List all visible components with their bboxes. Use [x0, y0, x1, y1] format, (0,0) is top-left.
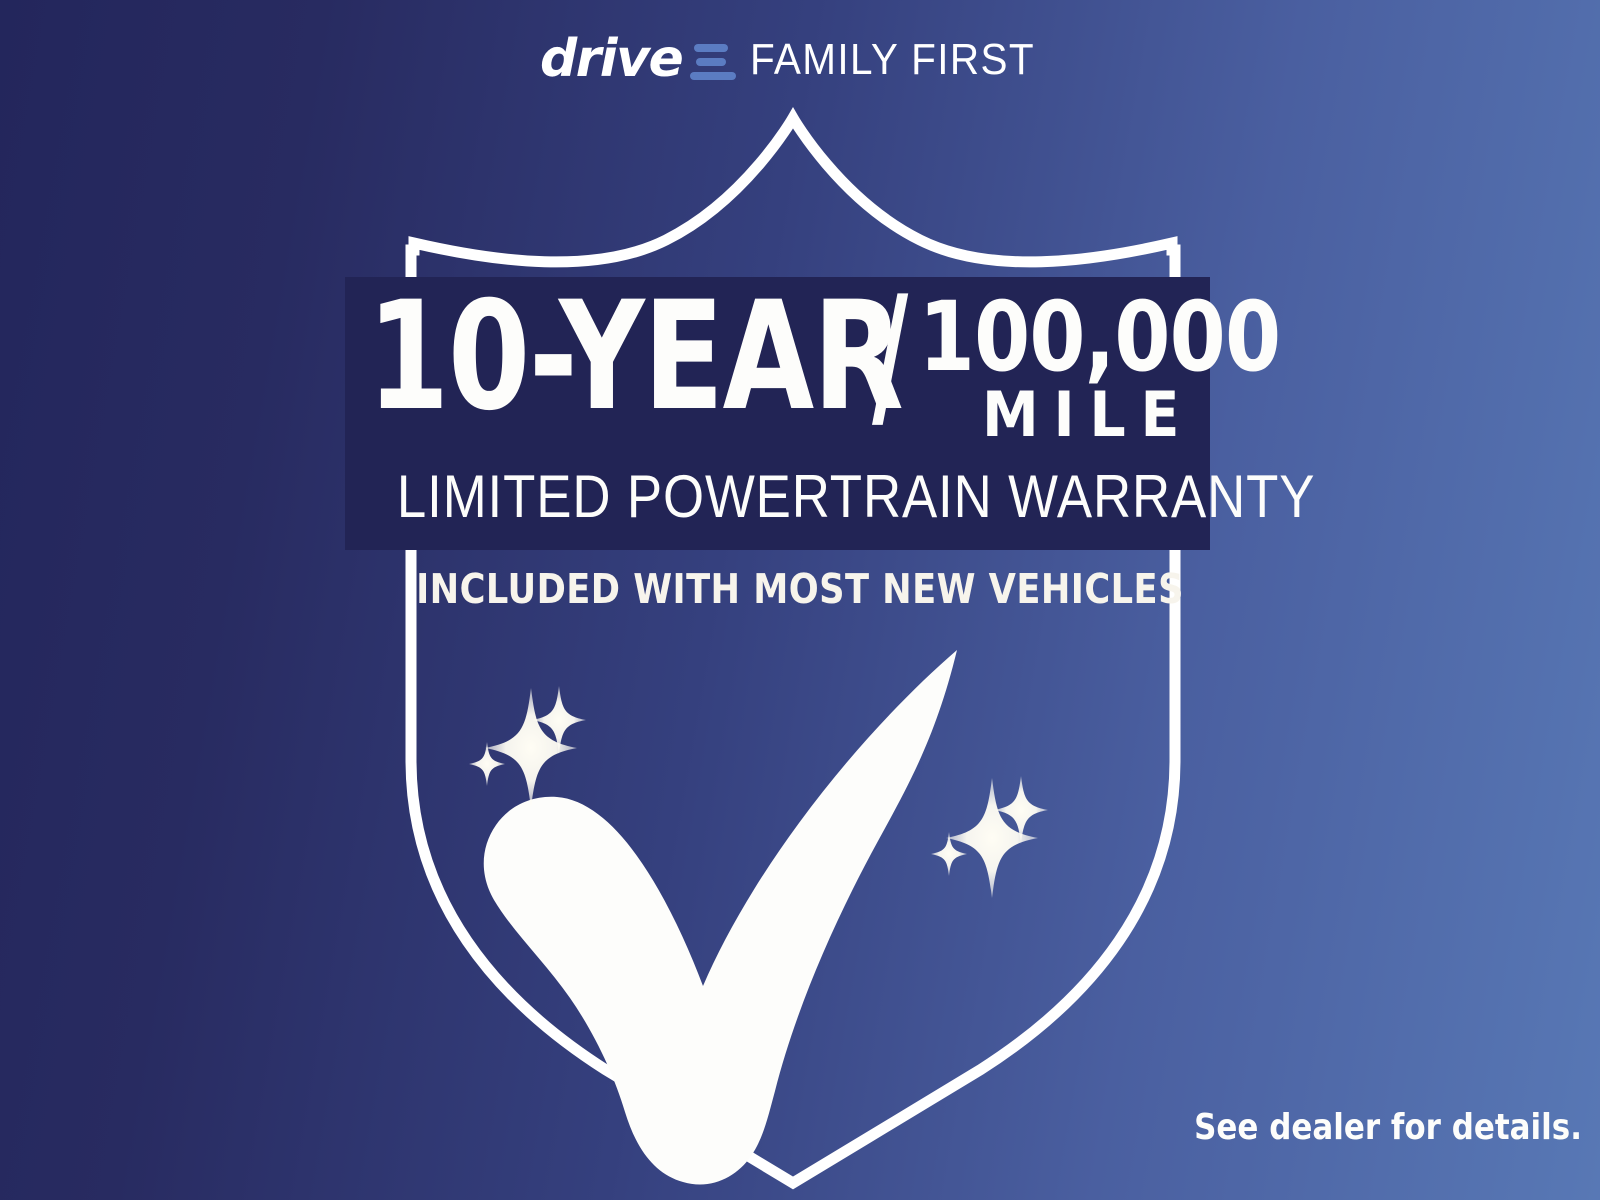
- included-line: INCLUDED WITH MOST NEW VEHICLES: [112, 565, 1488, 613]
- headline-years: 10-YEAR: [367, 282, 902, 432]
- headline-miles-block: 100,000 MILE: [866, 291, 1196, 446]
- footnote-text: See dealer for details.: [1194, 1107, 1582, 1148]
- headline-banner: 10-YEAR / 100,000 MILE LIMITED POWERTRAI…: [345, 277, 1210, 550]
- headline-row: 10-YEAR / 100,000 MILE: [345, 277, 1210, 467]
- warranty-badge-graphic: drive FAMILY FIRST: [0, 0, 1600, 1200]
- headline-mile-word: MILE: [892, 383, 1196, 446]
- sparkle-star-icon-left-large: [485, 688, 577, 808]
- headline-subhead: LIMITED POWERTRAIN WARRANTY: [397, 467, 1158, 527]
- headline-miles: 100,000: [919, 291, 1196, 383]
